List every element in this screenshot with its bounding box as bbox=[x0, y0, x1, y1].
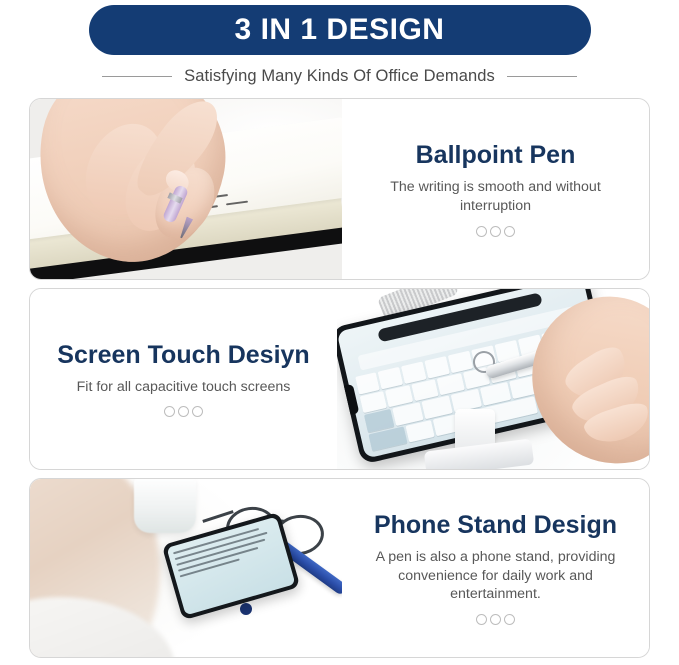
dot-decoration bbox=[476, 614, 515, 625]
panel-description: The writing is smooth and without interr… bbox=[356, 178, 635, 215]
ballpoint-pen-photo bbox=[30, 99, 342, 279]
header-banner: 3 IN 1 DESIGN bbox=[89, 5, 591, 55]
circle-icon bbox=[164, 406, 175, 417]
feature-card-phone-stand: Phone Stand Design A pen is also a phone… bbox=[29, 478, 650, 658]
screen-touch-text: Screen Touch Desiyn Fit for all capaciti… bbox=[30, 289, 337, 469]
circle-icon bbox=[476, 614, 487, 625]
phone-stand-photo bbox=[30, 479, 342, 657]
panel-description: A pen is also a phone stand, providing c… bbox=[356, 548, 635, 604]
panel-title: Screen Touch Desiyn bbox=[57, 341, 309, 370]
feature-card-ballpoint-pen: Ballpoint Pen The writing is smooth and … bbox=[29, 98, 650, 280]
feature-card-screen-touch: Screen Touch Desiyn Fit for all capaciti… bbox=[29, 288, 650, 470]
dot-decoration bbox=[164, 406, 203, 417]
header: 3 IN 1 DESIGN Satisfying Many Kinds Of O… bbox=[0, 0, 679, 86]
screen-touch-photo bbox=[337, 289, 649, 469]
panel-title: Phone Stand Design bbox=[374, 511, 617, 540]
panel-description: Fit for all capacitive touch screens bbox=[77, 378, 291, 397]
circle-icon bbox=[490, 226, 501, 237]
circle-icon bbox=[476, 226, 487, 237]
header-subtitle: Satisfying Many Kinds Of Office Demands bbox=[184, 67, 495, 86]
divider-line-right bbox=[507, 76, 577, 77]
phone-stand-text: Phone Stand Design A pen is also a phone… bbox=[342, 479, 649, 657]
circle-icon bbox=[504, 614, 515, 625]
divider-line-left bbox=[102, 76, 172, 77]
circle-icon bbox=[504, 226, 515, 237]
circle-icon bbox=[490, 614, 501, 625]
ballpoint-pen-text: Ballpoint Pen The writing is smooth and … bbox=[342, 99, 649, 279]
banner-title: 3 IN 1 DESIGN bbox=[235, 15, 445, 45]
circle-icon bbox=[178, 406, 189, 417]
dot-decoration bbox=[476, 226, 515, 237]
subtitle-row: Satisfying Many Kinds Of Office Demands bbox=[0, 67, 679, 86]
feature-card-list: Ballpoint Pen The writing is smooth and … bbox=[0, 86, 679, 658]
circle-icon bbox=[192, 406, 203, 417]
panel-title: Ballpoint Pen bbox=[416, 141, 576, 170]
